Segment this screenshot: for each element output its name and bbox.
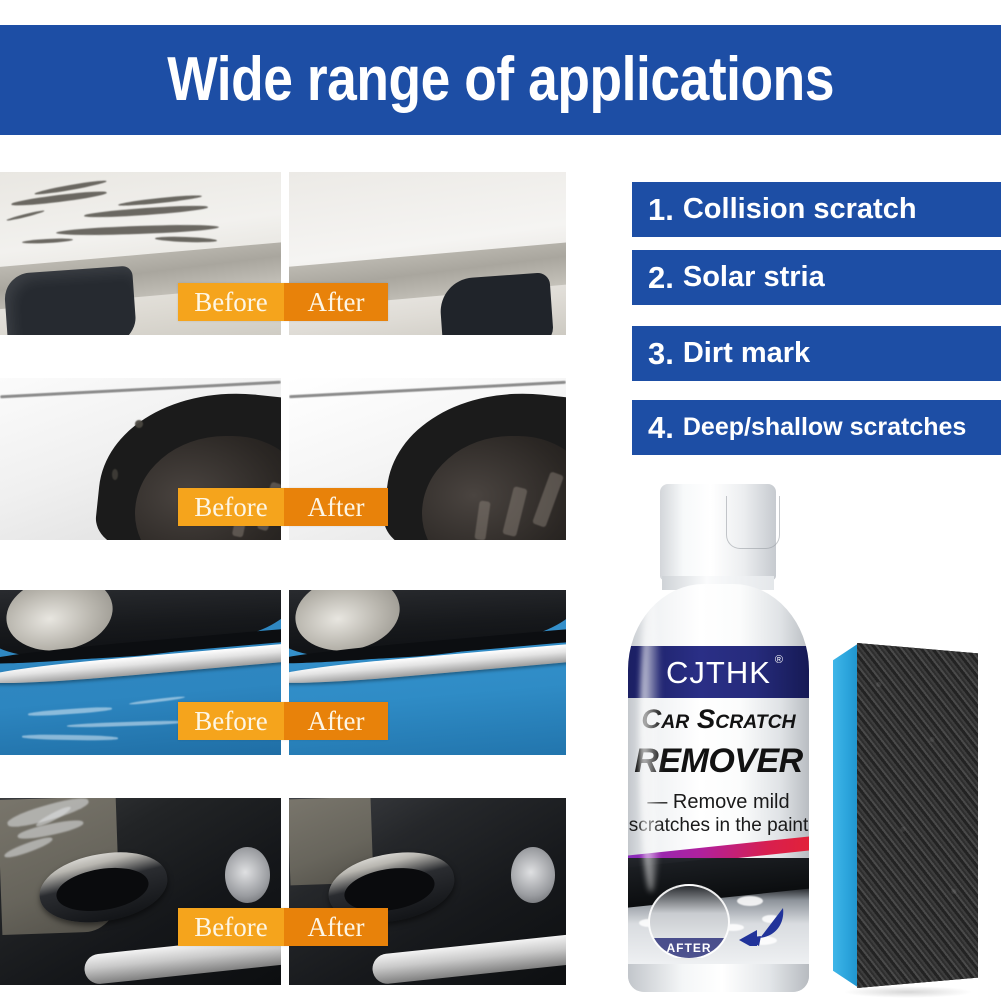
before-after-label-2: Before After bbox=[178, 488, 388, 526]
sponge-abrasive-face bbox=[857, 643, 978, 988]
application-item-3: 3. Dirt mark bbox=[632, 326, 1001, 381]
brand-name: CJTHK ® bbox=[666, 657, 771, 688]
curved-arrow-icon bbox=[735, 904, 787, 946]
application-number: 1. bbox=[648, 194, 674, 225]
product-infographic: Wide range of applications bbox=[0, 0, 1001, 1001]
application-number: 3. bbox=[648, 338, 674, 369]
label-photo-caption: AFTER bbox=[650, 938, 728, 958]
application-label: Collision scratch bbox=[683, 195, 917, 224]
comparison-row-4: Before After bbox=[0, 798, 566, 985]
bottle-base bbox=[628, 964, 809, 992]
before-label: Before bbox=[178, 488, 284, 526]
bottle-cap bbox=[660, 484, 776, 580]
label-demo-photo: AFTER bbox=[628, 858, 809, 964]
comparison-row-1: Before After bbox=[0, 172, 566, 335]
product-name-line-2: REMOVER bbox=[628, 744, 809, 778]
bottle-body: CJTHK ® Car Scratch REMOVER — Remove mil… bbox=[628, 584, 809, 992]
photo-divider-4 bbox=[281, 798, 289, 985]
application-number: 4. bbox=[648, 412, 674, 443]
before-after-label-1: Before After bbox=[178, 283, 388, 321]
sponge-applicator bbox=[833, 643, 978, 988]
before-after-label-3: Before After bbox=[178, 702, 388, 740]
after-label: After bbox=[284, 702, 388, 740]
sponge-shadow bbox=[843, 986, 973, 998]
sponge-foam-side bbox=[833, 643, 859, 988]
comparison-row-2: Before After bbox=[0, 378, 566, 540]
product-tagline-line-1: — Remove mild bbox=[628, 792, 809, 812]
application-item-2: 2. Solar stria bbox=[632, 250, 1001, 305]
after-label: After bbox=[284, 908, 388, 946]
application-label: Deep/shallow scratches bbox=[683, 415, 966, 440]
brand-band: CJTHK ® bbox=[628, 646, 809, 698]
application-label: Solar stria bbox=[683, 263, 825, 292]
after-label: After bbox=[284, 488, 388, 526]
before-label: Before bbox=[178, 283, 284, 321]
before-label: Before bbox=[178, 702, 284, 740]
header-banner: Wide range of applications bbox=[0, 25, 1001, 135]
product-name-line-1: Car Scratch bbox=[628, 706, 809, 733]
before-photo-4 bbox=[0, 798, 281, 985]
before-after-label-4: Before After bbox=[178, 908, 388, 946]
comparison-row-3: Before After bbox=[0, 590, 566, 755]
application-label: Dirt mark bbox=[683, 339, 810, 368]
product-tagline-line-2: scratches in the paint bbox=[628, 816, 809, 835]
application-number: 2. bbox=[648, 262, 674, 293]
after-label: After bbox=[284, 283, 388, 321]
product-bottle: CJTHK ® Car Scratch REMOVER — Remove mil… bbox=[626, 484, 811, 992]
cap-flip-tab bbox=[726, 496, 780, 549]
after-photo-4 bbox=[289, 798, 566, 985]
page-title: Wide range of applications bbox=[167, 49, 834, 111]
registered-trademark-icon: ® bbox=[775, 655, 784, 666]
application-item-4: 4. Deep/shallow scratches bbox=[632, 400, 1001, 455]
application-item-1: 1. Collision scratch bbox=[632, 182, 1001, 237]
brand-name-text: CJTHK bbox=[666, 655, 771, 690]
before-label: Before bbox=[178, 908, 284, 946]
magnifier-circle: AFTER bbox=[648, 884, 730, 960]
